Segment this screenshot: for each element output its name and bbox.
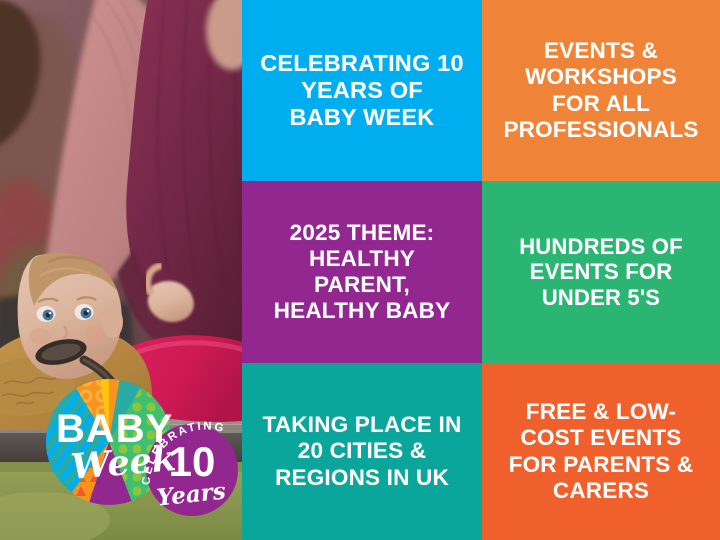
panel-events-workshops: EVENTS & WORKSHOPS FOR ALL PROFESSIONALS [482,0,720,181]
panel-hundreds-of-events-text: HUNDREDS OF EVENTS FOR UNDER 5'S [519,234,683,311]
panel-events-workshops-text: EVENTS & WORKSHOPS FOR ALL PROFESSIONALS [503,38,698,142]
baby-week-logo-art: CELEBRATING 10 Years BABY Week [46,372,242,517]
panel-taking-place-cities-text: TAKING PLACE IN 20 CITIES & REGIONS IN U… [263,412,462,490]
panel-free-low-cost-text: FREE & LOW- COST EVENTS FOR PARENTS & CA… [509,399,694,503]
panel-hundreds-of-events: HUNDREDS OF EVENTS FOR UNDER 5'S [482,181,720,363]
baby-and-parent-photo: CELEBRATING 10 Years BABY Week [0,0,242,540]
panel-2025-theme-text: 2025 THEME: HEALTHY PARENT, HEALTHY BABY [274,220,451,324]
poster-canvas: CELEBRATING 10 Years BABY Week CELEBRATI… [0,0,720,540]
panel-celebrating-10-years-text: CELEBRATING 10 YEARS OF BABY WEEK [260,50,463,132]
panel-2025-theme: 2025 THEME: HEALTHY PARENT, HEALTHY BABY [242,181,482,363]
panel-taking-place-cities: TAKING PLACE IN 20 CITIES & REGIONS IN U… [242,363,482,540]
panel-free-low-cost: FREE & LOW- COST EVENTS FOR PARENTS & CA… [482,363,720,540]
message-grid: CELEBRATING 10 YEARS OF BABY WEEK EVENTS… [242,0,720,540]
baby-week-logo: CELEBRATING 10 Years BABY Week [46,372,242,517]
panel-celebrating-10-years: CELEBRATING 10 YEARS OF BABY WEEK [242,0,482,181]
